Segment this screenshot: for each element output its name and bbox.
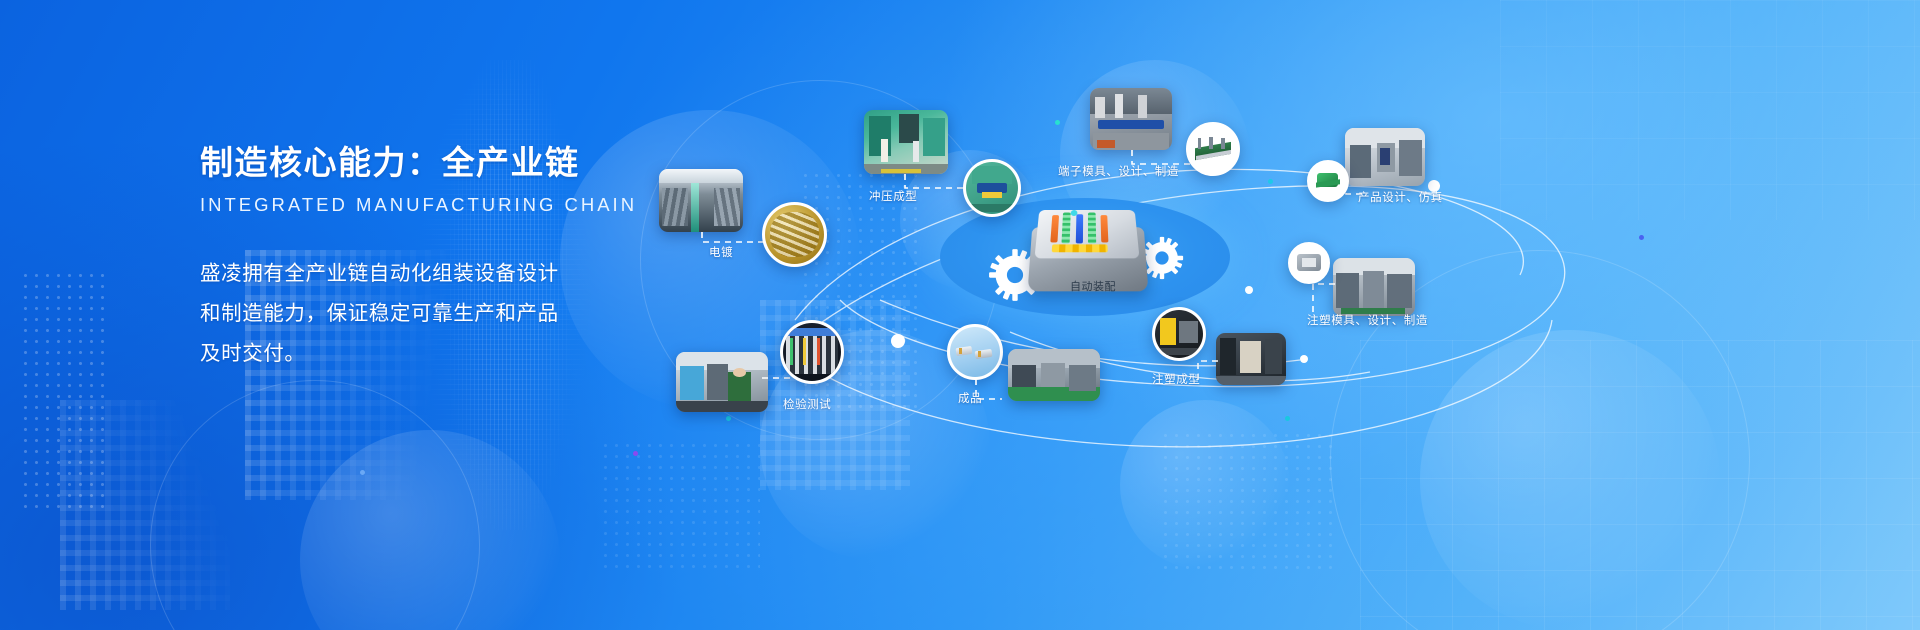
node-label: 成品	[958, 390, 982, 406]
node-label: 产品设计、仿真	[1358, 189, 1443, 205]
mold-pin	[1088, 213, 1096, 244]
node-finished-product-thumbnail	[1008, 349, 1100, 401]
node-thumbnail	[659, 169, 743, 232]
mold-pin	[1061, 213, 1070, 244]
node-thumbnail	[1345, 128, 1425, 186]
hub-label: 自动装配	[1048, 278, 1138, 294]
mold-pin	[1052, 244, 1108, 252]
node-label: 电镀	[709, 244, 733, 260]
node-thumbnail	[1216, 333, 1286, 385]
node-label: 端子模具、设计、制造	[1058, 163, 1179, 179]
node-terminal-mold-icon[interactable]	[1186, 122, 1240, 176]
node-thumbnail	[864, 110, 948, 174]
node-label: 检验测试	[783, 396, 831, 412]
node-thumbnail	[1333, 258, 1415, 316]
node-thumbnail	[676, 352, 768, 412]
process-diagram: 自动装配 电镀	[0, 0, 1920, 630]
node-injection-mold-icon[interactable]	[1288, 242, 1330, 284]
node-stamping-icon[interactable]	[963, 159, 1021, 217]
node-label: 注塑模具、设计、制造	[1307, 312, 1428, 328]
mold-pin	[1076, 214, 1083, 243]
node-electroplating-icon[interactable]	[762, 202, 827, 267]
orbit-curves	[0, 0, 1920, 630]
node-product-design-icon[interactable]	[1307, 160, 1349, 202]
node-injection-molding-icon[interactable]	[1152, 307, 1206, 361]
node-label: 冲压成型	[869, 188, 917, 204]
mold-pin	[1100, 215, 1108, 242]
mold-pin	[1050, 215, 1059, 242]
banner-stage: 制造核心能力：全产业链 INTEGRATED MANUFACTURING CHA…	[0, 0, 1920, 630]
node-thumbnail	[1090, 88, 1172, 150]
node-label: 注塑成型	[1152, 371, 1200, 387]
node-inspection-test-icon[interactable]	[780, 320, 844, 384]
mold-cavity	[1034, 210, 1139, 258]
node-finished-product-icon[interactable]	[947, 324, 1003, 380]
